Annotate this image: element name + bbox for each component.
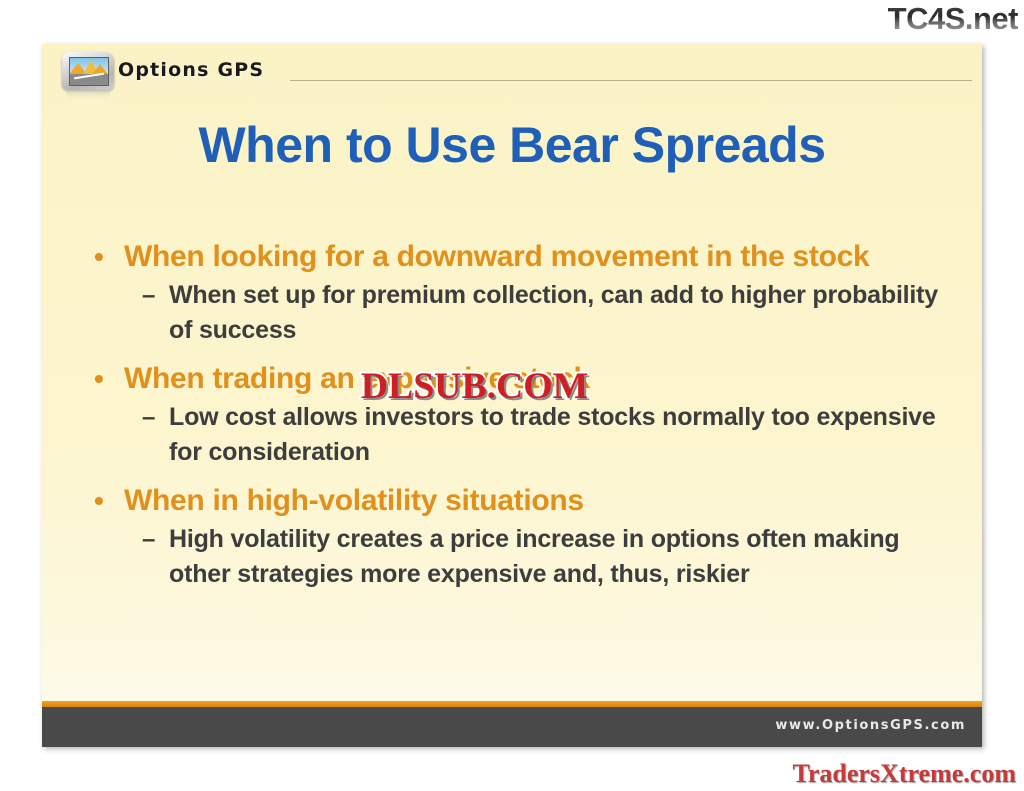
gps-device-screen: [69, 57, 109, 86]
dash-marker: –: [142, 278, 169, 313]
list-item: • When looking for a downward movement i…: [94, 236, 950, 277]
dlsub-watermark: DLSUB.COM: [361, 365, 589, 408]
list-item: – High volatility creates a price increa…: [142, 522, 950, 592]
slide-footer: www.OptionsGPS.com: [42, 707, 982, 747]
slide-header: Options GPS: [42, 44, 982, 102]
tradersxtreme-brand-watermark: TradersXtreme.com: [792, 759, 1016, 789]
bullet-text: When in high-volatility situations: [124, 480, 914, 521]
list-item: – When set up for premium collection, ca…: [142, 278, 950, 348]
bullet-text: When looking for a downward movement in …: [124, 236, 914, 277]
tc4s-brand-watermark: TC4S.net: [888, 2, 1018, 36]
sub-bullet-text: Low cost allows investors to trade stock…: [169, 400, 939, 470]
header-divider: [290, 80, 972, 81]
logo-reflection: [66, 90, 110, 99]
sub-bullet-text: When set up for premium collection, can …: [169, 278, 939, 348]
slide-body-list: • When looking for a downward movement i…: [94, 236, 950, 594]
spacer: [94, 472, 950, 480]
footer-url: www.OptionsGPS.com: [775, 718, 966, 733]
list-item: – Low cost allows investors to trade sto…: [142, 400, 950, 470]
list-item: • When in high-volatility situations: [94, 480, 950, 521]
spacer: [94, 350, 950, 358]
brand-wordmark: Options GPS: [118, 59, 264, 81]
map-road-icon: [70, 74, 108, 85]
bullet-marker: •: [94, 358, 124, 399]
dash-marker: –: [142, 400, 169, 435]
sub-bullet-text: High volatility creates a price increase…: [169, 522, 939, 592]
page-title: When to Use Bear Spreads: [42, 116, 982, 174]
bullet-marker: •: [94, 236, 124, 277]
dash-marker: –: [142, 522, 169, 557]
presentation-slide: Options GPS When to Use Bear Spreads • W…: [42, 44, 982, 747]
bullet-marker: •: [94, 480, 124, 521]
gps-device-icon: [62, 52, 114, 92]
